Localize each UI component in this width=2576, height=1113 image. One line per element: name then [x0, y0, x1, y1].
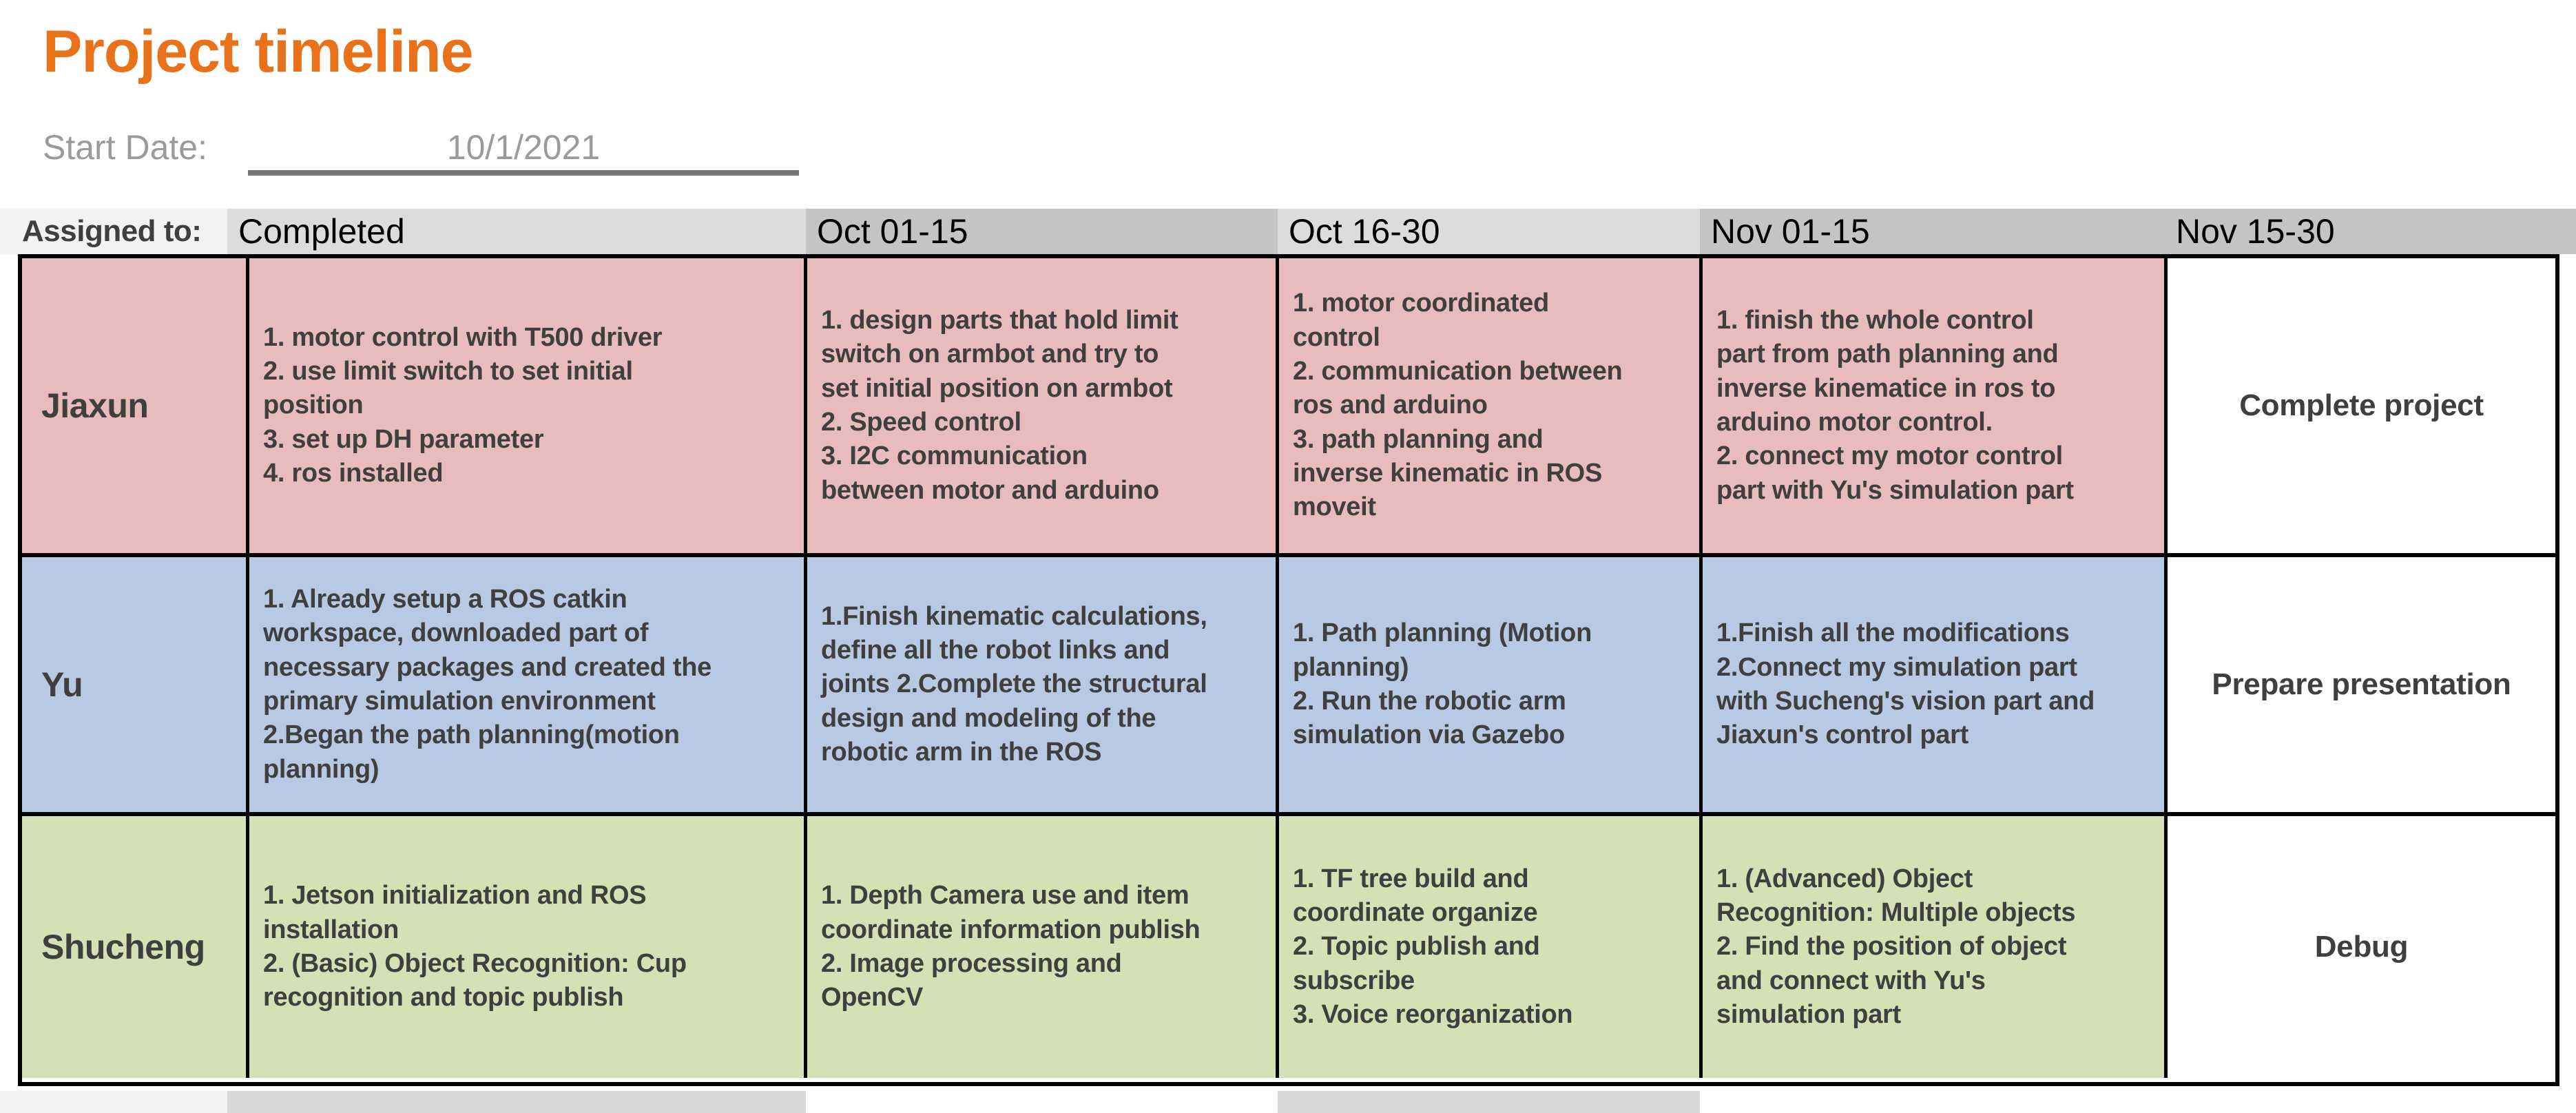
assignee-name: Shucheng [41, 927, 205, 967]
task-line: Recognition: Multiple objects [1716, 896, 2150, 930]
table-header-row: Assigned to: Completed Oct 01-15 Oct 16-… [0, 209, 2576, 254]
task-line: OpenCV [821, 981, 1262, 1015]
milestone-label: Debug [2315, 930, 2408, 964]
start-date-underline [248, 170, 799, 176]
task-line: part with Yu's simulation part [1716, 474, 2150, 508]
assignee-name: Jiaxun [41, 386, 148, 426]
task-line: 2.Connect my simulation part [1716, 651, 2150, 685]
page-title: Project timeline [43, 18, 472, 86]
cell-yu-oct-01-15[interactable]: 1.Finish kinematic calculations, define … [807, 557, 1279, 812]
cell-shucheng-nov-15-30[interactable]: Debug [2168, 816, 2555, 1078]
task-line: 1. Path planning (Motion [1293, 616, 1685, 650]
cell-jiaxun-completed[interactable]: 1. motor control with T500 driver 2. use… [249, 258, 807, 553]
milestone-label: Prepare presentation [2212, 667, 2511, 702]
cell-yu-nov-01-15[interactable]: 1.Finish all the modifications 2.Connect… [1703, 557, 2168, 812]
task-line: 2. Speed control [821, 406, 1262, 439]
strip-col-oct-01-15 [806, 1091, 1278, 1113]
cell-jiaxun-nov-01-15[interactable]: 1. finish the whole control part from pa… [1703, 258, 2168, 553]
task-line: primary simulation environment [263, 685, 790, 718]
task-line: joints 2.Complete the structural [821, 667, 1262, 701]
cell-shucheng-oct-01-15[interactable]: 1. Depth Camera use and item coordinate … [807, 816, 1279, 1078]
task-line: 2. connect my motor control [1716, 439, 2150, 473]
task-line: 2. Run the robotic arm [1293, 685, 1685, 718]
task-line: simulation via Gazebo [1293, 718, 1685, 752]
task-line: inverse kinematic in ROS [1293, 457, 1685, 490]
task-line: 1. Depth Camera use and item [821, 879, 1262, 913]
milestone-label: Complete project [2239, 388, 2484, 423]
header-assigned-to: Assigned to: [0, 209, 227, 254]
task-line: 1. (Advanced) Object [1716, 862, 2150, 896]
cell-jiaxun-nov-15-30[interactable]: Complete project [2168, 258, 2555, 553]
task-line: design and modeling of the [821, 702, 1262, 736]
task-line: define all the robot links and [821, 634, 1262, 667]
row-name-cell-shucheng: Shucheng [22, 816, 249, 1078]
task-line: 1. TF tree build and [1293, 862, 1685, 896]
task-line: control [1293, 321, 1685, 355]
task-line: moveit [1293, 490, 1685, 524]
task-line: 1. design parts that hold limit [821, 304, 1262, 337]
header-col-nov-15-30[interactable]: Nov 15-30 [2165, 209, 2576, 254]
start-date-value[interactable]: 10/1/2021 [248, 127, 799, 167]
task-line: switch on armbot and try to [821, 337, 1262, 371]
task-line: planning) [263, 753, 790, 787]
task-line: 3. Voice reorganization [1293, 998, 1685, 1032]
task-line: set initial position on armbot [821, 372, 1262, 406]
task-line: 2. Image processing and [821, 947, 1262, 981]
table-row: Shucheng 1. Jetson initialization and RO… [22, 816, 2555, 1078]
cell-yu-nov-15-30[interactable]: Prepare presentation [2168, 557, 2555, 812]
task-line: 1.Finish all the modifications [1716, 616, 2150, 650]
task-line: 3. set up DH parameter [263, 423, 790, 457]
task-line: 1. finish the whole control [1716, 304, 2150, 337]
task-line: workspace, downloaded part of [263, 616, 790, 650]
row-name-cell-jiaxun: Jiaxun [22, 258, 249, 553]
cell-yu-oct-16-30[interactable]: 1. Path planning (Motion planning) 2. Ru… [1279, 557, 1703, 812]
task-line: 2. Topic publish and [1293, 930, 1685, 964]
start-date-label: Start Date: [43, 127, 207, 167]
project-timeline-table: Jiaxun 1. motor control with T500 driver… [18, 254, 2559, 1086]
task-line: 1.Finish kinematic calculations, [821, 600, 1262, 634]
strip-col-completed [227, 1091, 806, 1113]
task-line: simulation part [1716, 998, 2150, 1032]
strip-col-nov-01-15 [1700, 1091, 2165, 1113]
task-line: ros and arduino [1293, 388, 1685, 422]
header-col-nov-01-15[interactable]: Nov 01-15 [1700, 209, 2165, 254]
task-line: 2. communication between [1293, 355, 1685, 388]
task-line: 2. use limit switch to set initial [263, 355, 790, 388]
task-line: 4. ros installed [263, 457, 790, 490]
strip-col-oct-16-30 [1278, 1091, 1700, 1113]
row-name-cell-yu: Yu [22, 557, 249, 812]
task-line: necessary packages and created the [263, 651, 790, 685]
task-line: robotic arm in the ROS [821, 736, 1262, 769]
strip-col-nov-15-30 [2165, 1091, 2576, 1113]
task-line: 1. Already setup a ROS catkin [263, 583, 790, 616]
table-row: Yu 1. Already setup a ROS catkin workspa… [22, 557, 2555, 816]
task-line: planning) [1293, 651, 1685, 685]
task-line: Jiaxun's control part [1716, 718, 2150, 752]
cell-jiaxun-oct-01-15[interactable]: 1. design parts that hold limit switch o… [807, 258, 1279, 553]
strip-col-assigned [0, 1091, 227, 1113]
task-line: part from path planning and [1716, 337, 2150, 371]
task-line: between motor and arduino [821, 474, 1262, 508]
title-block: Project timeline Start Date: 10/1/2021 [0, 0, 2576, 207]
task-line: 1. motor coordinated [1293, 287, 1685, 320]
cell-shucheng-oct-16-30[interactable]: 1. TF tree build and coordinate organize… [1279, 816, 1703, 1078]
task-line: 1. motor control with T500 driver [263, 321, 790, 355]
header-col-oct-01-15[interactable]: Oct 01-15 [806, 209, 1278, 254]
task-line: subscribe [1293, 964, 1685, 998]
task-line: with Sucheng's vision part and [1716, 685, 2150, 718]
cell-yu-completed[interactable]: 1. Already setup a ROS catkin workspace,… [249, 557, 807, 812]
task-line: 3. I2C communication [821, 439, 1262, 473]
task-line: 3. path planning and [1293, 423, 1685, 457]
task-line: recognition and topic publish [263, 981, 790, 1015]
task-line: coordinate information publish [821, 913, 1262, 947]
header-col-completed[interactable]: Completed [227, 209, 806, 254]
cell-jiaxun-oct-16-30[interactable]: 1. motor coordinated control 2. communic… [1279, 258, 1703, 553]
bottom-column-strip [0, 1091, 2576, 1113]
task-line: 2. Find the position of object [1716, 930, 2150, 964]
task-line: 2. (Basic) Object Recognition: Cup [263, 947, 790, 981]
task-line: coordinate organize [1293, 896, 1685, 930]
assignee-name: Yu [41, 665, 83, 705]
cell-shucheng-nov-01-15[interactable]: 1. (Advanced) Object Recognition: Multip… [1703, 816, 2168, 1078]
task-line: 1. Jetson initialization and ROS [263, 879, 790, 913]
table-row: Jiaxun 1. motor control with T500 driver… [22, 258, 2555, 557]
task-line: 2.Began the path planning(motion [263, 718, 790, 752]
task-line: arduino motor control. [1716, 406, 2150, 439]
header-col-oct-16-30[interactable]: Oct 16-30 [1278, 209, 1700, 254]
task-line: and connect with Yu's [1716, 964, 2150, 998]
task-line: position [263, 388, 790, 422]
task-line: installation [263, 913, 790, 947]
task-line: inverse kinematice in ros to [1716, 372, 2150, 406]
cell-shucheng-completed[interactable]: 1. Jetson initialization and ROS install… [249, 816, 807, 1078]
